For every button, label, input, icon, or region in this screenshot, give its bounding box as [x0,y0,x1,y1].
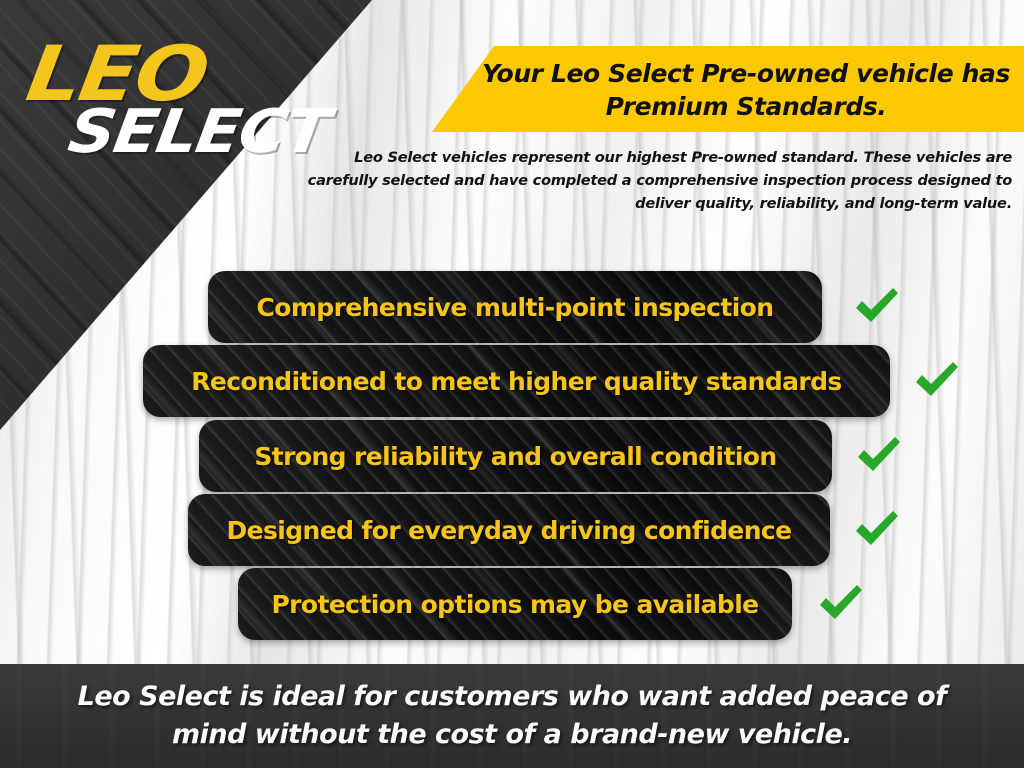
feature-label: Designed for everyday driving confidence [226,516,791,545]
feature-label: Comprehensive multi-point inspection [257,293,774,322]
feature-row: Comprehensive multi-point inspection [208,271,822,343]
feature-row: Designed for everyday driving confidence [188,494,830,566]
leo-select-poster: LEO SELECT Your Leo Select Pre-owned veh… [0,0,1024,768]
feature-pill: Comprehensive multi-point inspection [208,271,822,343]
feature-row: Strong reliability and overall condition [199,420,832,492]
check-icon [812,576,868,632]
feature-row: Protection options may be available [238,568,792,640]
feature-pill: Protection options may be available [238,568,792,640]
check-icon [848,502,904,558]
feature-label: Protection options may be available [271,590,758,619]
feature-pill: Designed for everyday driving confidence [188,494,830,566]
check-icon [908,353,964,409]
footer-tagline: Leo Select is ideal for customers who wa… [42,678,982,755]
check-icon [848,279,904,335]
feature-list: Comprehensive multi-point inspection Rec… [0,0,1024,768]
feature-pill: Reconditioned to meet higher quality sta… [143,345,890,417]
check-icon [850,428,906,484]
feature-pill: Strong reliability and overall condition [199,420,832,492]
footer-band: Leo Select is ideal for customers who wa… [0,664,1024,768]
feature-label: Strong reliability and overall condition [254,442,776,471]
feature-row: Reconditioned to meet higher quality sta… [143,345,890,417]
feature-label: Reconditioned to meet higher quality sta… [191,367,841,396]
